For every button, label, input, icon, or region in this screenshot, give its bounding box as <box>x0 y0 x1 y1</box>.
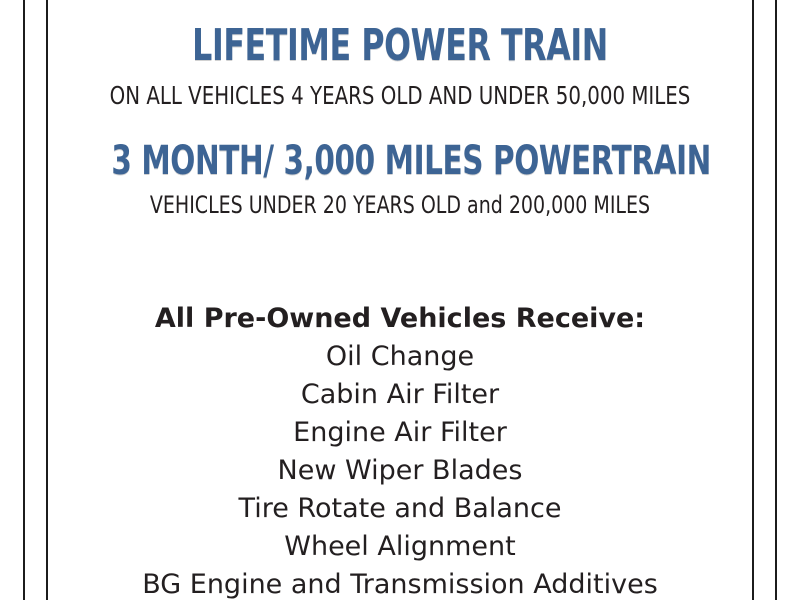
offer-subhead-3month-powertrain: VEHICLES UNDER 20 YEARS OLD and 200,000 … <box>90 193 710 217</box>
flyer-content: LIFETIME POWER TRAIN ON ALL VEHICLES 4 Y… <box>48 0 752 600</box>
frame-rule-outer-right <box>775 0 777 600</box>
flyer-page: LIFETIME POWER TRAIN ON ALL VEHICLES 4 Y… <box>0 0 800 600</box>
service-item: Engine Air Filter <box>48 414 752 452</box>
services-section: All Pre-Owned Vehicles Receive: Oil Chan… <box>48 300 752 600</box>
offer-headline-3month-powertrain: 3 MONTH/ 3,000 MILES POWERTRAIN <box>111 141 688 181</box>
service-item: Cabin Air Filter <box>48 376 752 414</box>
service-item: Oil Change <box>48 338 752 376</box>
service-item: BG Engine and Transmission Additives <box>48 566 752 600</box>
service-item: Tire Rotate and Balance <box>48 490 752 528</box>
service-item: Wheel Alignment <box>48 528 752 566</box>
offer-headline-lifetime-powertrain: LIFETIME POWER TRAIN <box>118 24 681 68</box>
frame-rule-inner-right <box>752 0 754 600</box>
services-heading: All Pre-Owned Vehicles Receive: <box>48 300 752 338</box>
frame-rule-outer-left <box>23 0 25 600</box>
offer-subhead-lifetime-powertrain: ON ALL VEHICLES 4 YEARS OLD AND UNDER 50… <box>90 83 710 108</box>
service-item: New Wiper Blades <box>48 452 752 490</box>
